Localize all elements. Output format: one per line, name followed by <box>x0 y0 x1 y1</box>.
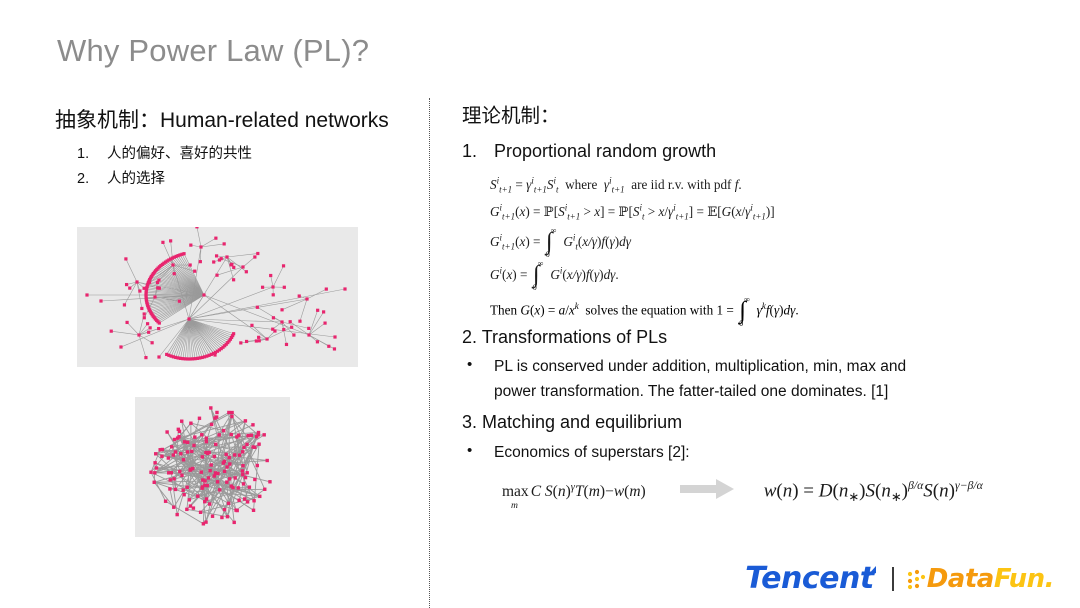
formula-line-3: Git+1(x) = ∫∞0 Git(x/γ)f(γ)dγ <box>490 225 1062 258</box>
list-item: 2. 人的选择 <box>55 168 415 190</box>
tencent-logo: Tencent <box>745 561 874 596</box>
bullet-dot-icon: • <box>467 439 472 463</box>
right-column-heading: 理论机制： <box>462 104 1062 129</box>
left-column: 抽象机制：Human-related networks 1. 人的偏好、喜好的共… <box>55 108 415 192</box>
right-bullet-2-line1: PL is conserved under addition, multipli… <box>494 358 906 375</box>
right-item-2: 2. Transformations of PLs <box>462 325 1062 349</box>
right-item-1-number: 1. <box>462 139 477 163</box>
right-bullet-2: • PL is conserved under addition, multip… <box>462 354 1062 404</box>
right-arrow-icon <box>680 479 734 504</box>
datafun-dots-icon <box>906 566 926 592</box>
left-column-heading: 抽象机制：Human-related networks <box>55 108 415 134</box>
right-bullet-3-label: Economics of superstars [2]: <box>494 444 690 461</box>
slide-canvas: Why Power Law (PL)? 抽象机制：Human-related n… <box>0 0 1080 608</box>
right-column: 理论机制： 1. Proportional random growth Sit+… <box>462 104 1062 505</box>
list-item: 1. 人的偏好、喜好的共性 <box>55 143 415 165</box>
mesh-network-diagram <box>135 397 290 537</box>
list-item-number: 1. <box>77 143 89 165</box>
datafun-logo: DataFun. <box>906 564 1054 594</box>
right-bullet-2-line2: power transformation. The fatter-tailed … <box>494 383 888 400</box>
tencent-logo-text: Tencent <box>745 561 874 596</box>
footer-logo-bar: Tencent DataFun. <box>745 561 1054 596</box>
tencent-tick-icon <box>864 565 878 579</box>
right-item-3: 3. Matching and equilibrium <box>462 410 1062 434</box>
formula-then-line: Then G(x) = a/xk solves the equation wit… <box>490 301 1062 318</box>
right-item-1: 1. Proportional random growth <box>462 139 1062 163</box>
list-item-label: 人的偏好、喜好的共性 <box>107 146 252 162</box>
right-item-1-label: Proportional random growth <box>494 141 716 161</box>
right-bullet-3: • Economics of superstars [2]: <box>462 440 1062 465</box>
logo-separator <box>892 567 894 591</box>
formula-line-4: Gi(x) = ∫∞0 Gi(x/γ)f(γ)dγ. <box>490 258 1062 291</box>
superstars-formula-row: maxmC S(n)γT(m)−w(m) w(n) = D(n∗)S(n∗)β/… <box>502 479 1062 505</box>
formula-line-2: Git+1(x) = ℙ[Sit+1 > x] = ℙ[Sit > x/γit+… <box>490 199 1062 226</box>
right-arrow-svg <box>680 479 734 499</box>
hub-network-svg <box>77 227 358 367</box>
list-item-number: 2. <box>77 168 89 190</box>
datafun-logo-text: DataFun. <box>927 564 1054 594</box>
formula-line-1: Sit+1 = γit+1Sit where γit+1 are iid r.v… <box>490 172 1062 199</box>
datafun-data-text: Data <box>927 564 994 594</box>
formula-maximization: maxmC S(n)γT(m)−w(m) <box>502 482 646 501</box>
datafun-fun-text: Fun. <box>994 564 1054 594</box>
list-item-label: 人的选择 <box>107 171 165 187</box>
bullet-dot-icon: • <box>467 353 472 377</box>
formula-wage: w(n) = D(n∗)S(n∗)β/αS(n)γ−β/α <box>764 479 983 505</box>
left-column-list: 1. 人的偏好、喜好的共性 2. 人的选择 <box>55 143 415 190</box>
page-title: Why Power Law (PL)? <box>57 33 369 69</box>
mesh-network-svg <box>135 397 290 537</box>
hub-network-diagram <box>77 227 358 367</box>
column-divider <box>429 98 430 608</box>
formula-group-proportional-growth: Sit+1 = γit+1Sit where γit+1 are iid r.v… <box>490 172 1062 292</box>
